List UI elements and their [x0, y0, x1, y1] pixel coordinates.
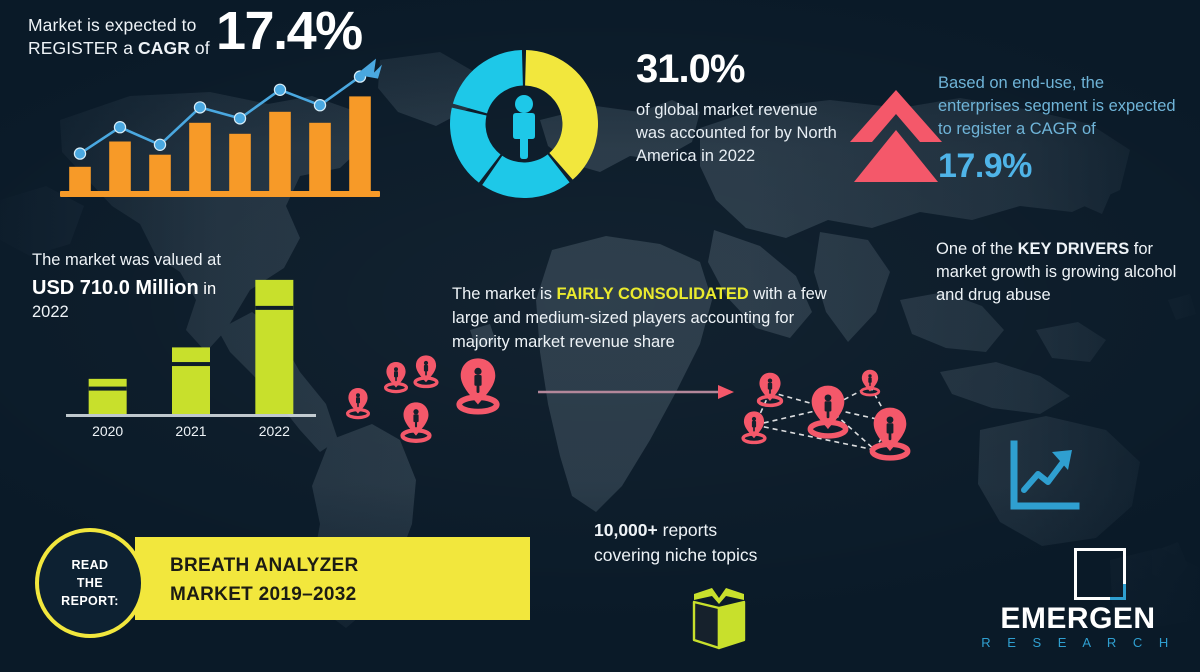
- read-report-badge[interactable]: READ THE REPORT:: [35, 528, 145, 638]
- double-chevron-up-icon: [846, 84, 946, 189]
- trend-bar: [349, 96, 371, 191]
- reports-count-line2: covering niche topics: [594, 543, 844, 568]
- market-value-by-year-chart: 202020212022: [66, 262, 316, 444]
- trend-marker: [234, 113, 245, 124]
- open-book-icon: [688, 578, 750, 650]
- reports-count-block: 10,000+ reports covering niche topics: [594, 518, 844, 568]
- year-bar-divider: [89, 387, 127, 391]
- year-label: 2021: [175, 423, 206, 439]
- year-bar: [89, 379, 127, 414]
- cagr-value: 17.4%: [216, 4, 362, 58]
- growth-trend-chart: [60, 70, 380, 205]
- consolidation-text: The market is FAIRLY CONSOLIDATED with a…: [452, 283, 842, 355]
- logo-wordmark: EMERGEN: [978, 604, 1178, 634]
- trend-bar: [149, 155, 171, 191]
- logo-subtitle: R E S E A R C H: [978, 636, 1178, 649]
- trend-bar: [189, 123, 211, 191]
- growth-chart-arrow-icon: [1008, 440, 1080, 512]
- key-drivers-text: One of the KEY DRIVERS for market growth…: [936, 238, 1192, 307]
- right-arrow-icon: [538, 385, 734, 399]
- market-players-pin-map: [330, 350, 950, 470]
- consolidation-block: The market is FAIRLY CONSOLIDATED with a…: [452, 283, 842, 355]
- donut-slice: [525, 50, 598, 180]
- trend-bar: [69, 167, 91, 191]
- year-bar-divider: [255, 306, 293, 310]
- end-use-description: Based on end-use, the enterprises segmen…: [938, 72, 1190, 140]
- trend-marker: [194, 102, 205, 113]
- year-bar: [255, 280, 293, 414]
- trend-marker: [314, 100, 325, 111]
- trend-marker: [274, 84, 285, 95]
- read-report-badge-text: READ THE REPORT:: [61, 556, 119, 610]
- year-label: 2022: [259, 423, 290, 439]
- person-icon: [513, 95, 535, 159]
- emergen-research-logo[interactable]: EMERGEN R E S E A R C H: [978, 548, 1178, 652]
- trend-bar: [269, 112, 291, 191]
- report-title-line2: MARKET 2019–2032: [170, 581, 520, 610]
- north-america-value: 31.0%: [636, 48, 846, 90]
- end-use-block: Based on end-use, the enterprises segmen…: [938, 72, 1190, 189]
- trend-bar: [109, 142, 131, 192]
- year-bar-divider: [172, 362, 210, 366]
- report-title: BREATH ANALYZER MARKET 2019–2032: [170, 552, 520, 609]
- infographic-canvas: Market is expected to REGISTER a CAGR of…: [0, 0, 1200, 672]
- year-label: 2020: [92, 423, 123, 439]
- trend-marker: [74, 148, 85, 159]
- trend-marker: [154, 139, 165, 150]
- north-america-share-donut: [444, 44, 604, 204]
- north-america-block: 31.0% of global market revenue was accou…: [636, 48, 846, 167]
- year-bar: [172, 347, 210, 414]
- trend-bar: [229, 134, 251, 191]
- pin-cluster-right: [743, 370, 908, 458]
- end-use-cagr-value: 17.9%: [938, 144, 1190, 189]
- trend-marker: [114, 122, 125, 133]
- read-report-banner[interactable]: BREATH ANALYZER MARKET 2019–2032 READ TH…: [35, 528, 535, 638]
- reports-count-line1: 10,000+ reports: [594, 518, 844, 543]
- report-title-line1: BREATH ANALYZER: [170, 552, 520, 581]
- north-america-description: of global market revenue was accounted f…: [636, 99, 846, 167]
- donut-slice: [453, 50, 523, 113]
- key-drivers-block: One of the KEY DRIVERS for market growth…: [936, 238, 1192, 307]
- logo-square-mark: [1074, 548, 1126, 600]
- pin-cluster-left: [348, 355, 497, 440]
- trend-bar: [309, 123, 331, 191]
